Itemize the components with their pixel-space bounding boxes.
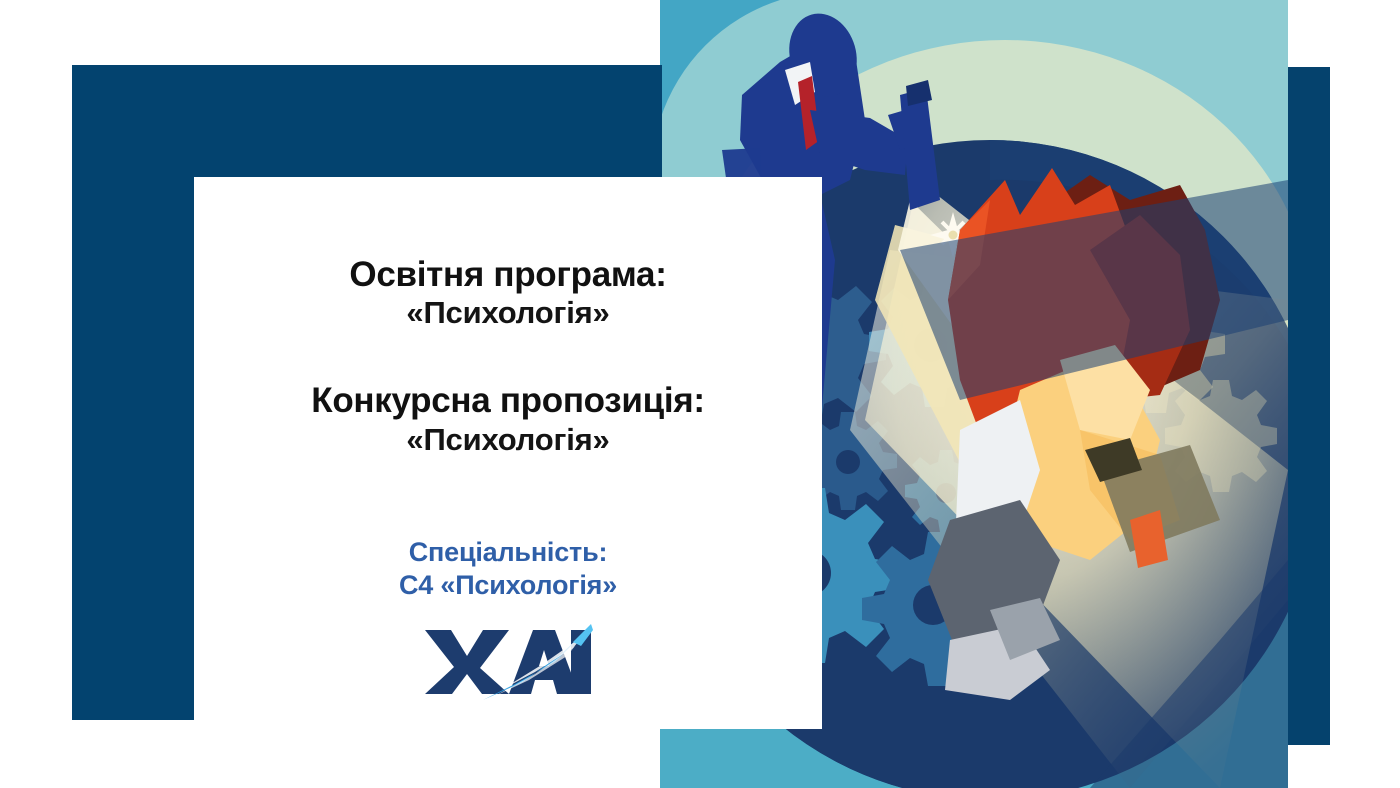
- offer-block: Конкурсна пропозиція: «Психологія»: [194, 381, 822, 457]
- khai-logo: [423, 624, 593, 700]
- program-label: Освітня програма:: [194, 255, 822, 294]
- offer-label: Конкурсна пропозиція:: [194, 381, 822, 420]
- text-card-white-area: Освітня програма: «Психологія» Конкурсна…: [194, 177, 822, 729]
- specialty-label: Спеціальність:: [194, 536, 822, 569]
- offer-name: «Психологія»: [194, 421, 822, 458]
- text-card-frame: Освітня програма: «Психологія» Конкурсна…: [72, 65, 662, 720]
- text-card-content: Освітня програма: «Психологія» Конкурсна…: [194, 177, 822, 729]
- khai-logo-svg: [423, 624, 593, 700]
- right-accent-bar: [1288, 67, 1330, 745]
- specialty-value: С4 «Психологія»: [194, 569, 822, 602]
- program-block: Освітня програма: «Психологія»: [194, 255, 822, 331]
- program-name: «Психологія»: [194, 294, 822, 331]
- khai-letters: [425, 630, 591, 694]
- specialty-block: Спеціальність: С4 «Психологія»: [194, 536, 822, 602]
- slide-canvas: Освітня програма: «Психологія» Конкурсна…: [0, 0, 1400, 788]
